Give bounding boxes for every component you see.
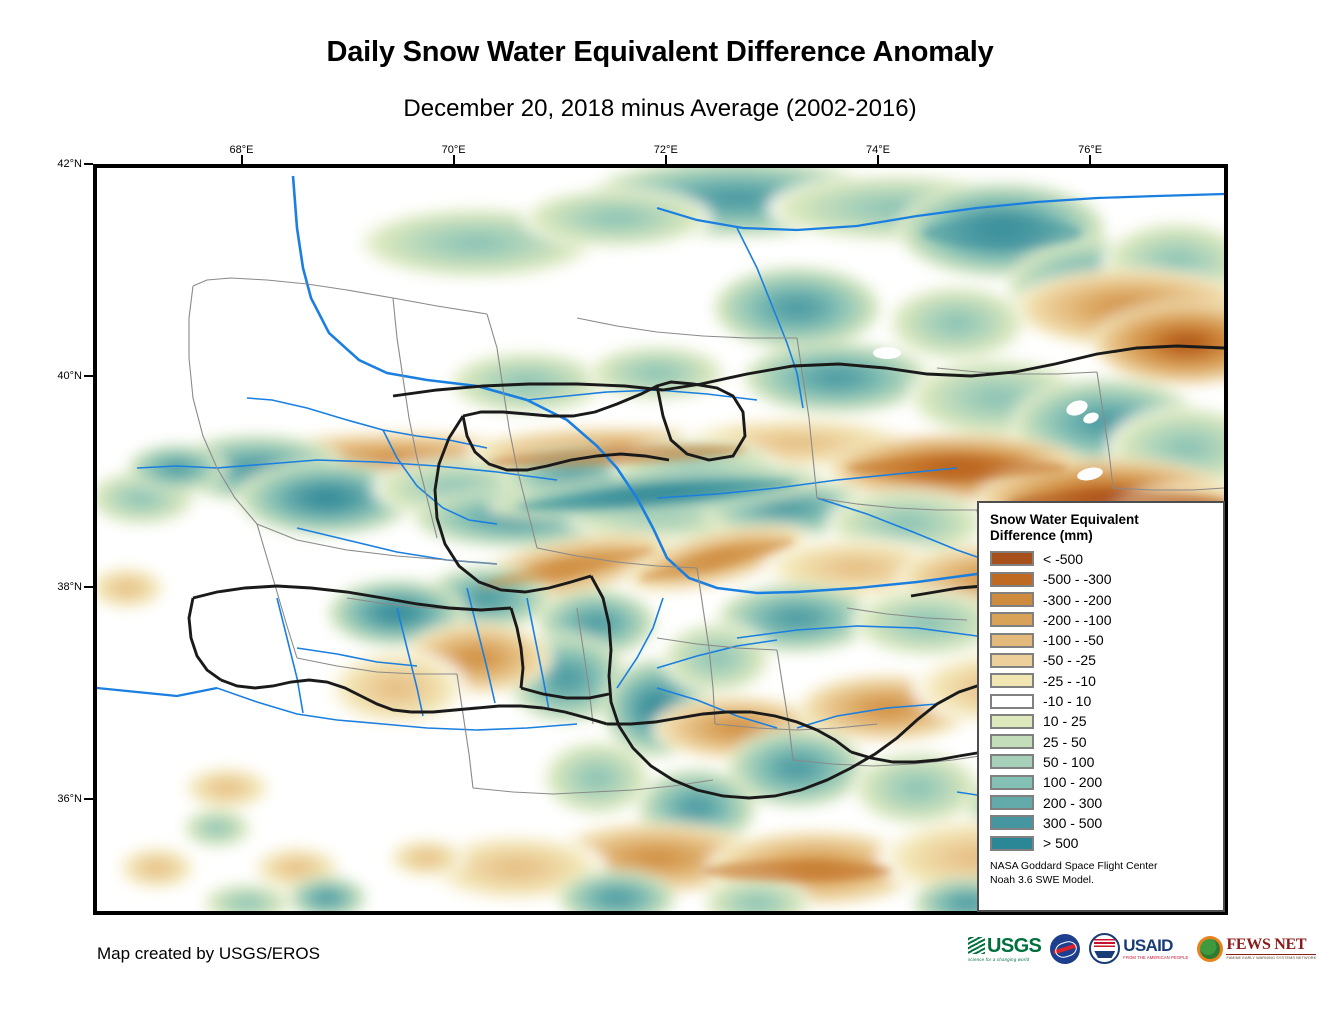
- legend-row: 50 - 100: [990, 752, 1213, 772]
- lon-tick-mark: [241, 155, 243, 164]
- lat-tick-mark: [84, 798, 93, 800]
- legend-title: Snow Water Equivalent Difference (mm): [990, 512, 1213, 544]
- legend-label: > 500: [1043, 836, 1078, 850]
- legend-note-line1: NASA Goddard Space Flight Center: [990, 860, 1213, 873]
- lat-tick-label: 42°N: [34, 158, 82, 170]
- lat-tick-mark: [84, 375, 93, 377]
- legend-label: -50 - -25: [1043, 653, 1096, 667]
- page-title: Daily Snow Water Equivalent Difference A…: [0, 36, 1320, 69]
- legend-swatch: [990, 592, 1034, 607]
- legend-label: -300 - -200: [1043, 593, 1111, 607]
- legend-row: < -500: [990, 549, 1213, 569]
- legend-label: -500 - -300: [1043, 572, 1111, 586]
- legend-row: 10 - 25: [990, 711, 1213, 731]
- map-credit: Map created by USGS/EROS: [97, 944, 320, 964]
- page-subtitle: December 20, 2018 minus Average (2002-20…: [0, 95, 1320, 123]
- usaid-logo: USAID FROM THE AMERICAN PEOPLE: [1089, 933, 1188, 964]
- usgs-logo: USGS science for a changing world: [968, 936, 1041, 962]
- legend-label: 200 - 300: [1043, 796, 1102, 810]
- usgs-wave-icon: [968, 937, 985, 954]
- legend-label: -100 - -50: [1043, 633, 1104, 647]
- nasa-logo: [1050, 934, 1080, 964]
- legend-swatch: [990, 694, 1034, 709]
- lon-tick-mark: [877, 155, 879, 164]
- legend-swatch: [990, 815, 1034, 830]
- legend-swatch: [990, 775, 1034, 790]
- legend-row: -300 - -200: [990, 589, 1213, 609]
- legend-row: -50 - -25: [990, 650, 1213, 670]
- legend-title-line2: Difference (mm): [990, 528, 1213, 544]
- lat-tick-mark: [84, 586, 93, 588]
- legend-swatch: [990, 612, 1034, 627]
- usaid-tagline: FROM THE AMERICAN PEOPLE: [1123, 955, 1188, 960]
- lon-tick-mark: [1089, 155, 1091, 164]
- legend-row: 25 - 50: [990, 732, 1213, 752]
- lon-tick-mark: [453, 155, 455, 164]
- legend-swatch: [990, 653, 1034, 668]
- legend-row: -500 - -300: [990, 569, 1213, 589]
- agency-logo-row: USGS science for a changing world USAID …: [968, 933, 1316, 964]
- usaid-wordmark: USAID: [1123, 937, 1188, 954]
- fews-tagline: FAMINE EARLY WARNING SYSTEMS NETWORK: [1226, 956, 1316, 960]
- fews-divider: [1226, 954, 1316, 955]
- legend-row: 100 - 200: [990, 772, 1213, 792]
- map-legend[interactable]: Snow Water Equivalent Difference (mm) < …: [977, 501, 1225, 912]
- legend-label: < -500: [1043, 552, 1083, 566]
- legend-row: -10 - 10: [990, 691, 1213, 711]
- legend-source-note: NASA Goddard Space Flight Center Noah 3.…: [990, 860, 1213, 887]
- legend-label: 100 - 200: [1043, 775, 1102, 789]
- legend-swatch: [990, 795, 1034, 810]
- legend-label: 25 - 50: [1043, 735, 1087, 749]
- legend-class-list: < -500-500 - -300-300 - -200-200 - -100-…: [990, 549, 1213, 853]
- legend-row: -25 - -10: [990, 671, 1213, 691]
- legend-row: -100 - -50: [990, 630, 1213, 650]
- legend-swatch: [990, 754, 1034, 769]
- fews-wordmark: FEWS NET: [1226, 937, 1316, 953]
- legend-label: 10 - 25: [1043, 714, 1087, 728]
- legend-row: 200 - 300: [990, 792, 1213, 812]
- legend-swatch: [990, 633, 1034, 648]
- lat-tick-label: 40°N: [34, 370, 82, 382]
- lon-tick-mark: [665, 155, 667, 164]
- legend-title-line1: Snow Water Equivalent: [990, 512, 1213, 528]
- usaid-seal-icon: [1089, 933, 1120, 964]
- legend-row: 300 - 500: [990, 813, 1213, 833]
- legend-swatch: [990, 572, 1034, 587]
- legend-swatch: [990, 714, 1034, 729]
- legend-swatch: [990, 836, 1034, 851]
- legend-swatch: [990, 734, 1034, 749]
- legend-row: > 500: [990, 833, 1213, 853]
- usgs-tagline: science for a changing world: [968, 957, 1029, 962]
- usgs-wordmark: USGS: [987, 936, 1041, 956]
- legend-row: -200 - -100: [990, 610, 1213, 630]
- legend-label: -10 - 10: [1043, 694, 1091, 708]
- legend-swatch: [990, 551, 1034, 566]
- fews-net-logo: FEWS NET FAMINE EARLY WARNING SYSTEMS NE…: [1197, 936, 1316, 962]
- legend-label: 300 - 500: [1043, 816, 1102, 830]
- nasa-meatball-icon: [1050, 934, 1080, 964]
- fews-globe-icon: [1197, 936, 1223, 962]
- legend-label: -200 - -100: [1043, 613, 1111, 627]
- lat-tick-label: 38°N: [34, 581, 82, 593]
- legend-note-line2: Noah 3.6 SWE Model.: [990, 874, 1213, 887]
- legend-swatch: [990, 673, 1034, 688]
- legend-label: 50 - 100: [1043, 755, 1094, 769]
- lat-tick-mark: [84, 163, 93, 165]
- legend-label: -25 - -10: [1043, 674, 1096, 688]
- lat-tick-label: 36°N: [34, 793, 82, 805]
